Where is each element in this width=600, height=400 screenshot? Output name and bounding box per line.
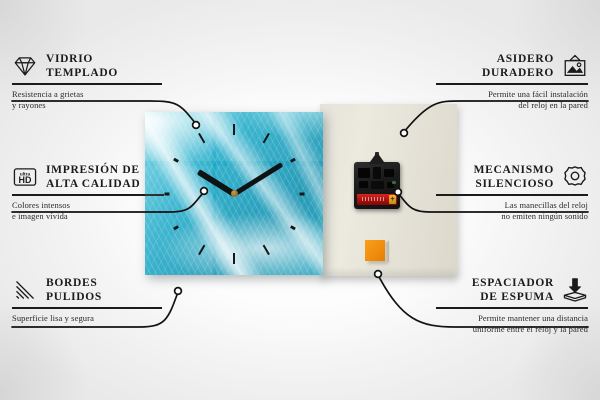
- feature-header: ESPACIADOR DE ESPUMA: [436, 276, 588, 304]
- feature-title-line1: IMPRESIÓN DE: [46, 163, 140, 177]
- feature-title-line2: PULIDOS: [46, 290, 102, 304]
- feature-title-line2: DE ESPUMA: [472, 290, 554, 304]
- feature-desc-line2: no emiten ningún sonido: [436, 211, 588, 222]
- glass-wall-clock: [145, 112, 323, 275]
- feature-desc-line1: Permite una fácil instalación: [436, 89, 588, 100]
- mechanism-detail: [359, 181, 368, 188]
- clock-tick: [290, 157, 296, 162]
- clock-tick: [198, 132, 205, 143]
- feature-description: Colores intensos e imagen vívida: [12, 200, 164, 222]
- feature-title: ASIDERO DURADERO: [482, 52, 554, 80]
- clock-tick: [173, 157, 179, 162]
- clock-tick: [233, 124, 235, 135]
- arrow-onto-pad-icon: [562, 277, 588, 303]
- feature-divider: [436, 307, 588, 309]
- feature-asidero-duradero: ASIDERO DURADERO Permite una fácil insta…: [436, 52, 588, 111]
- feature-desc-line1: Colores intensos: [12, 200, 164, 211]
- ultra-hd-icon: ultra HD: [12, 164, 38, 190]
- feature-desc-line1: Superficie lisa y segura: [12, 313, 162, 324]
- clock-mechanism: [354, 162, 400, 209]
- feature-desc-line1: Resistencia a grietas: [12, 89, 162, 100]
- feature-header: MECANISMO SILENCIOSO: [436, 163, 588, 191]
- feature-desc-line2: uniforme entre el reloj y la pared: [436, 324, 588, 335]
- mechanism-detail: [373, 167, 381, 179]
- feature-divider: [12, 194, 164, 196]
- beveled-edge-icon: [12, 277, 38, 303]
- feature-desc-line2: del reloj en la pared: [436, 100, 588, 111]
- foam-spacer-part: [365, 240, 385, 261]
- clock-tick: [165, 192, 170, 195]
- mechanism-detail: [384, 169, 394, 177]
- gear-icon: [562, 164, 588, 190]
- feature-vidrio-templado: VIDRIO TEMPLADO Resistencia a grietas y …: [12, 52, 162, 111]
- feature-title: BORDES PULIDOS: [46, 276, 102, 304]
- feature-title-line2: TEMPLADO: [46, 66, 118, 80]
- feature-divider: [436, 194, 588, 196]
- feature-desc-line2: e imagen vívida: [12, 211, 164, 222]
- feature-header: ASIDERO DURADERO: [436, 52, 588, 80]
- clock-tick: [290, 225, 296, 230]
- ultra-hd-icon-main-text: HD: [19, 175, 32, 185]
- diamond-icon: [12, 53, 38, 79]
- feature-divider: [12, 307, 162, 309]
- feature-desc-line1: Las manecillas del reloj: [436, 200, 588, 211]
- battery-positive-terminal: [389, 195, 396, 204]
- clock-center-cap: [231, 190, 238, 197]
- clock-tick: [173, 225, 179, 230]
- feature-title: VIDRIO TEMPLADO: [46, 52, 118, 80]
- feature-title-line1: VIDRIO: [46, 52, 118, 66]
- feature-title-line1: ASIDERO: [482, 52, 554, 66]
- clock-tick: [198, 244, 205, 255]
- clock-hour-hand: [197, 169, 236, 196]
- clock-tick: [300, 192, 305, 195]
- feature-title-line1: ESPACIADOR: [472, 276, 554, 290]
- framed-picture-hanger-icon: [562, 53, 588, 79]
- mechanism-detail: [358, 168, 370, 178]
- feature-header: BORDES PULIDOS: [12, 276, 162, 304]
- feature-desc-line1: Permite mantener una distancia: [436, 313, 588, 324]
- feature-description: Superficie lisa y segura: [12, 313, 162, 324]
- feature-bordes-pulidos: BORDES PULIDOS Superficie lisa y segura: [12, 276, 162, 324]
- feature-title-line2: DURADERO: [482, 66, 554, 80]
- clock-tick: [263, 244, 270, 255]
- clock-minute-hand: [233, 162, 283, 196]
- feature-impresion-alta-calidad: ultra HD IMPRESIÓN DE ALTA CALIDAD Color…: [12, 163, 164, 222]
- mechanism-detail: [371, 181, 384, 189]
- feature-mecanismo-silencioso: MECANISMO SILENCIOSO Las manecillas del …: [436, 163, 588, 222]
- feature-title-line2: SILENCIOSO: [474, 177, 554, 191]
- battery: [357, 194, 397, 205]
- feature-title: MECANISMO SILENCIOSO: [474, 163, 554, 191]
- feature-desc-line2: y rayones: [12, 100, 162, 111]
- feature-description: Permite mantener una distancia uniforme …: [436, 313, 588, 335]
- feature-title-line1: BORDES: [46, 276, 102, 290]
- feature-title: IMPRESIÓN DE ALTA CALIDAD: [46, 163, 140, 191]
- feature-title: ESPACIADOR DE ESPUMA: [472, 276, 554, 304]
- feature-description: Las manecillas del reloj no emiten ningú…: [436, 200, 588, 222]
- feature-title-line1: MECANISMO: [474, 163, 554, 177]
- feature-espaciador-de-espuma: ESPACIADOR DE ESPUMA Permite mantener un…: [436, 276, 588, 335]
- feature-header: VIDRIO TEMPLADO: [12, 52, 162, 80]
- feature-description: Resistencia a grietas y rayones: [12, 89, 162, 111]
- mechanism-indicator: [392, 181, 396, 184]
- clock-tick: [263, 132, 270, 143]
- feature-divider: [12, 83, 162, 85]
- clock-tick: [233, 253, 235, 264]
- battery-label-stripe: [362, 197, 384, 201]
- feature-description: Permite una fácil instalación del reloj …: [436, 89, 588, 111]
- feature-title-line2: ALTA CALIDAD: [46, 177, 140, 191]
- infographic-canvas: VIDRIO TEMPLADO Resistencia a grietas y …: [0, 0, 600, 400]
- clock-dial: [145, 112, 323, 275]
- feature-divider: [436, 83, 588, 85]
- feature-header: ultra HD IMPRESIÓN DE ALTA CALIDAD: [12, 163, 164, 191]
